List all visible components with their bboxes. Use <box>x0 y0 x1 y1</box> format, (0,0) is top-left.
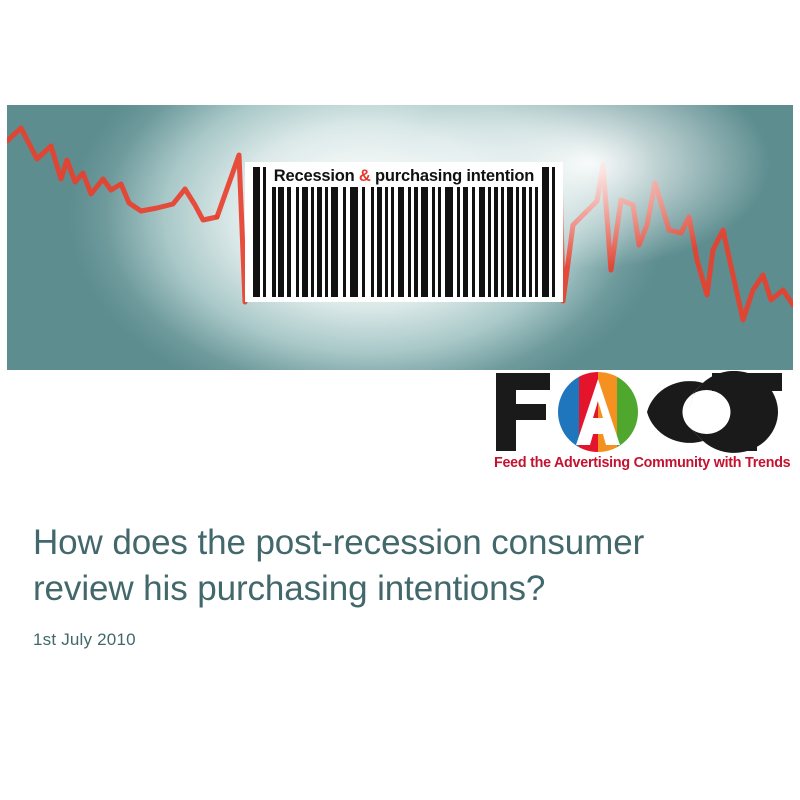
trend-line-right <box>585 165 793 320</box>
trend-line-left <box>7 128 217 220</box>
logo-letter-a <box>556 371 641 453</box>
trend-line-barcode-left <box>217 155 245 302</box>
fact-logo: Feed the Advertising Community with Tren… <box>494 371 786 479</box>
page-title: How does the post-recession consumer rev… <box>33 520 773 612</box>
cover-banner-image: Recession & purchasing intention <box>7 105 793 370</box>
page-title-line-1: How does the post-recession consumer <box>33 523 644 562</box>
cover-date: 1st July 2010 <box>33 630 773 650</box>
presentation-cover-slide: { "banner": { "barcode": { "caption_befo… <box>0 0 800 800</box>
barcode-graphic: Recession & purchasing intention <box>245 162 563 302</box>
logo-tagline: Feed the Advertising Community with Tren… <box>494 455 786 471</box>
fact-wordmark <box>494 371 786 453</box>
page-title-line-2: review his purchasing intentions? <box>33 569 545 608</box>
logo-letter-f <box>496 373 550 451</box>
title-block: How does the post-recession consumer rev… <box>33 520 773 650</box>
barcode-bars <box>251 167 557 297</box>
trend-line-barcode-right <box>560 165 585 301</box>
